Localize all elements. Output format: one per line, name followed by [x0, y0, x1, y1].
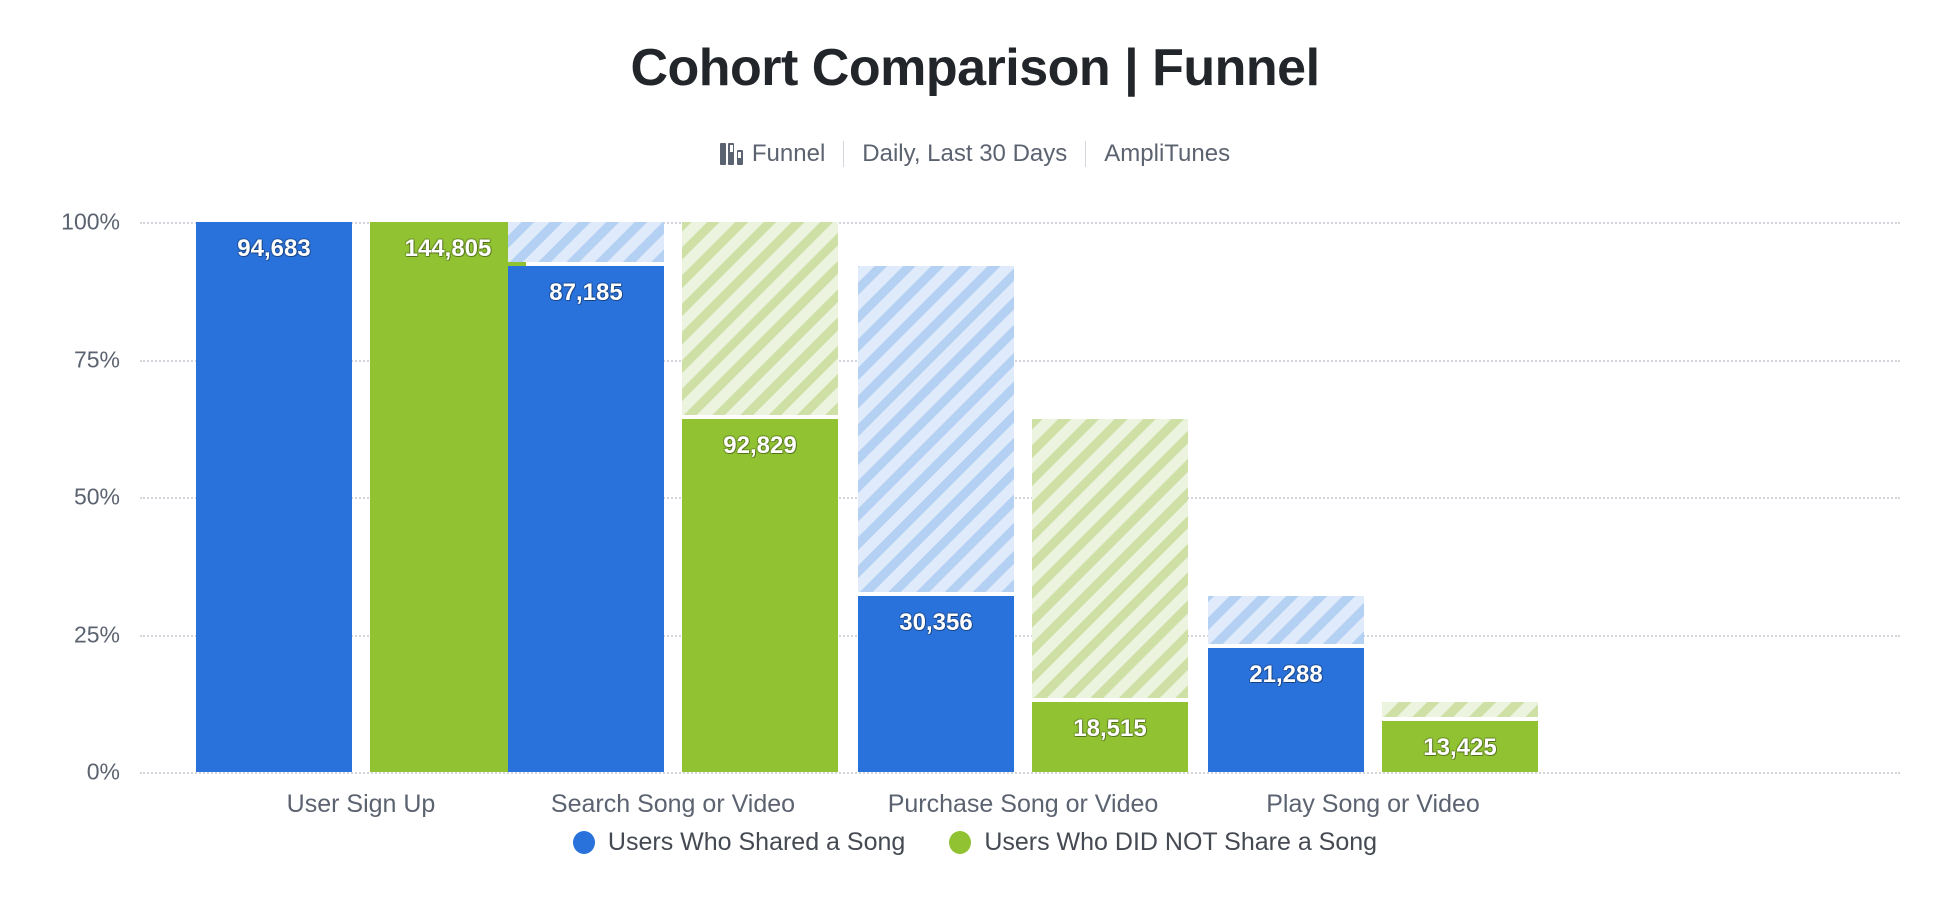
- bar-dropoff-segment[interactable]: [1382, 702, 1538, 717]
- bar-dropoff-segment[interactable]: [1208, 596, 1364, 645]
- bar-value-label: 87,185: [508, 279, 664, 307]
- legend-item[interactable]: Users Who DID NOT Share a Song: [949, 828, 1377, 857]
- bar-column[interactable]: 144,805: [370, 222, 526, 772]
- bar-value-label: 21,288: [1208, 661, 1364, 689]
- funnel-bars-icon: [720, 143, 743, 165]
- bar-segment[interactable]: 13,425: [1382, 721, 1538, 772]
- bar-dropoff-segment[interactable]: [682, 222, 838, 415]
- bar-segment[interactable]: 18,515: [1032, 702, 1188, 772]
- chart-subtitle: Funnel Daily, Last 30 Days AmpliTunes: [0, 140, 1950, 168]
- y-axis-tick-label: 0%: [10, 759, 120, 786]
- x-axis-tick-label: Search Song or Video: [551, 790, 795, 819]
- legend-item-label: Users Who DID NOT Share a Song: [984, 828, 1377, 857]
- bar-segment[interactable]: 87,185: [508, 266, 664, 772]
- gridline: [140, 772, 1900, 774]
- x-axis-tick-label: User Sign Up: [287, 790, 436, 819]
- bar-segment[interactable]: 30,356: [858, 596, 1014, 772]
- bar-value-label: 30,356: [858, 609, 1014, 637]
- x-axis-tick-label: Purchase Song or Video: [888, 790, 1159, 819]
- subtitle-project: AmpliTunes: [1086, 140, 1248, 168]
- bar-segment[interactable]: 144,805: [370, 222, 526, 772]
- bar-value-label: 13,425: [1382, 734, 1538, 762]
- plot-area: 94,683144,80587,18592,82930,35618,51521,…: [140, 222, 1900, 772]
- x-axis-tick-label: Play Song or Video: [1266, 790, 1480, 819]
- legend-swatch-icon: [949, 831, 971, 854]
- subtitle-interval: Daily, Last 30 Days: [844, 140, 1085, 168]
- legend-swatch-icon: [573, 831, 595, 854]
- legend: Users Who Shared a SongUsers Who DID NOT…: [0, 828, 1950, 857]
- bar-column[interactable]: 92,829: [682, 222, 838, 772]
- bar-column[interactable]: 18,515: [1032, 222, 1188, 772]
- bar-column[interactable]: 87,185: [508, 222, 664, 772]
- page-title: Cohort Comparison | Funnel: [0, 38, 1950, 98]
- bar-column[interactable]: 21,288: [1208, 222, 1364, 772]
- bar-column[interactable]: 30,356: [858, 222, 1014, 772]
- bar-dropoff-segment[interactable]: [858, 266, 1014, 592]
- y-axis-tick-label: 50%: [10, 484, 120, 511]
- legend-item[interactable]: Users Who Shared a Song: [573, 828, 905, 857]
- bar-value-label: 92,829: [682, 432, 838, 460]
- subtitle-chart-type-label: Funnel: [752, 140, 825, 168]
- bar-value-label: 94,683: [196, 235, 352, 263]
- bar-column[interactable]: 94,683: [196, 222, 352, 772]
- subtitle-interval-label: Daily, Last 30 Days: [862, 140, 1067, 168]
- subtitle-project-label: AmpliTunes: [1104, 140, 1230, 168]
- y-axis-tick-label: 25%: [10, 621, 120, 648]
- bar-dropoff-segment[interactable]: [1032, 419, 1188, 697]
- y-axis-tick-label: 75%: [10, 346, 120, 373]
- y-axis-tick-label: 100%: [10, 209, 120, 236]
- chart-canvas: Cohort Comparison | Funnel Funnel Daily,…: [0, 0, 1950, 916]
- bar-segment[interactable]: 92,829: [682, 419, 838, 772]
- bar-dropoff-segment[interactable]: [508, 222, 664, 262]
- bar-value-label: 144,805: [370, 235, 526, 263]
- bar-segment[interactable]: 21,288: [1208, 648, 1364, 772]
- bar-value-label: 18,515: [1032, 715, 1188, 743]
- bar-column[interactable]: 13,425: [1382, 222, 1538, 772]
- subtitle-chart-type: Funnel: [702, 140, 843, 168]
- bar-segment[interactable]: 94,683: [196, 222, 352, 772]
- legend-item-label: Users Who Shared a Song: [608, 828, 905, 857]
